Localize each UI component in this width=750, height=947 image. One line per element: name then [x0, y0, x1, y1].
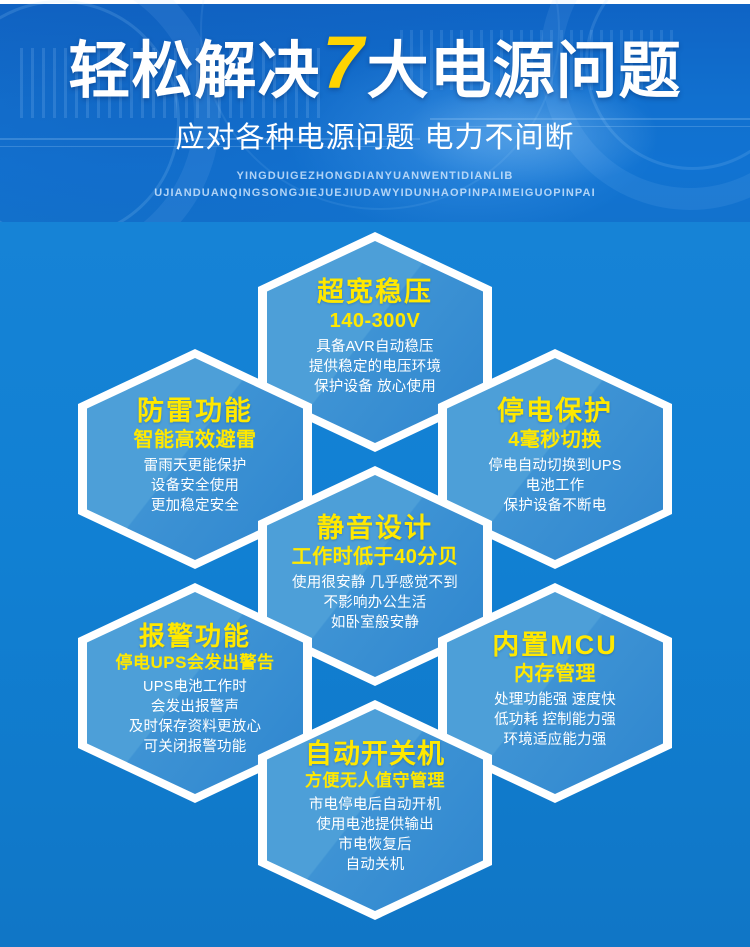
hexagon-inner: 自动开关机 方便无人值守管理 市电停电后自动开机 使用电池提供输出 市电恢复后 …: [267, 709, 483, 911]
hexagon-subtitle: 工作时低于40分贝: [273, 544, 477, 570]
hexagon-body-line: 提供稳定的电压环境: [273, 357, 477, 377]
hexagon-body-line: 及时保存资料更放心: [93, 717, 297, 737]
hexagon-body-line: 不影响办公生活: [273, 593, 477, 613]
hexagon-body-line: 如卧室般安静: [273, 613, 477, 633]
hexagon-title: 自动开关机: [273, 739, 477, 769]
hexagon-subtitle: 智能高效避雷: [93, 427, 297, 453]
hexagon-body-line: 市电停电后自动开机: [273, 795, 477, 815]
hexagon-body: 雷雨天更能保护 设备安全使用 更加稳定安全: [93, 456, 297, 516]
hexagon-title: 停电保护: [453, 396, 657, 426]
hexagon-subtitle: 停电UPS会发出警告: [93, 652, 297, 674]
hexagon-subtitle: 内存管理: [453, 661, 657, 687]
hexagon-body-line: 具备AVR自动稳压: [273, 337, 477, 357]
hexagon-body-line: 设备安全使用: [93, 476, 297, 496]
hexagon-body: 处理功能强 速度快 低功耗 控制能力强 环境适应能力强: [453, 690, 657, 750]
header-banner: 轻松解决7大电源问题 应对各种电源问题 电力不间断 YINGDUIGEZHONG…: [0, 0, 750, 222]
infographic-page: 轻松解决7大电源问题 应对各种电源问题 电力不间断 YINGDUIGEZHONG…: [0, 0, 750, 947]
hexagon-body-line: 雷雨天更能保护: [93, 456, 297, 476]
hexagon-body-line: UPS电池工作时: [93, 677, 297, 697]
hexagon-body: 使用很安静 几乎感觉不到 不影响办公生活 如卧室般安静: [273, 573, 477, 633]
hexagon-body-line: 使用很安静 几乎感觉不到: [273, 573, 477, 593]
hexagon-body-line: 使用电池提供输出: [273, 815, 477, 835]
hexagon-body-line: 自动关机: [273, 855, 477, 875]
hexagon-body-line: 保护设备 放心使用: [273, 377, 477, 397]
hexagon-body: 停电自动切换到UPS 电池工作 保护设备不断电: [453, 456, 657, 516]
hexagon-content: 超宽稳压 140-300V 具备AVR自动稳压 提供稳定的电压环境 保护设备 放…: [267, 241, 483, 397]
pinyin-line-2: UJIANDUANQINGSONGJIEJUEJIUDAWYIDUNHAOPIN…: [0, 187, 750, 199]
hexagon-subtitle: 4毫秒切换: [453, 427, 657, 453]
hexagon-body-line: 环境适应能力强: [453, 730, 657, 750]
honeycomb-area: 超宽稳压 140-300V 具备AVR自动稳压 提供稳定的电压环境 保护设备 放…: [0, 222, 750, 947]
hexagon-body-line: 处理功能强 速度快: [453, 690, 657, 710]
hexagon-subtitle: 方便无人值守管理: [273, 770, 477, 792]
page-title-number: 7: [320, 24, 366, 102]
hexagon-body-line: 电池工作: [453, 476, 657, 496]
page-title-suffix: 大电源问题: [367, 37, 682, 106]
pinyin-line-1: YINGDUIGEZHONGDIANYUANWENTIDIANLIB: [0, 170, 750, 182]
hexagon-body-line: 低功耗 控制能力强: [453, 710, 657, 730]
hexagon-body-line: 保护设备不断电: [453, 496, 657, 516]
hexagon-body-line: 会发出报警声: [93, 697, 297, 717]
page-subtitle: 应对各种电源问题 电力不间断: [0, 114, 750, 156]
hexagon-title: 静音设计: [273, 513, 477, 543]
page-title: 轻松解决7大电源问题: [0, 28, 750, 106]
hexagon-body-line: 市电恢复后: [273, 835, 477, 855]
hexagon-title: 防雷功能: [93, 396, 297, 426]
page-title-prefix: 轻松解决: [68, 37, 320, 106]
hexagon-subtitle: 140-300V: [273, 308, 477, 334]
hexagon-body: UPS电池工作时 会发出报警声 及时保存资料更放心 可关闭报警功能: [93, 677, 297, 757]
hexagon-title: 内置MCU: [453, 630, 657, 660]
hexagon-body: 市电停电后自动开机 使用电池提供输出 市电恢复后 自动关机: [273, 795, 477, 875]
hexagon-body-line: 停电自动切换到UPS: [453, 456, 657, 476]
hexagon-title: 报警功能: [93, 622, 297, 651]
hexagon-body: 具备AVR自动稳压 提供稳定的电压环境 保护设备 放心使用: [273, 337, 477, 397]
hexagon-title: 超宽稳压: [273, 277, 477, 307]
hexagon-body-line: 更加稳定安全: [93, 496, 297, 516]
